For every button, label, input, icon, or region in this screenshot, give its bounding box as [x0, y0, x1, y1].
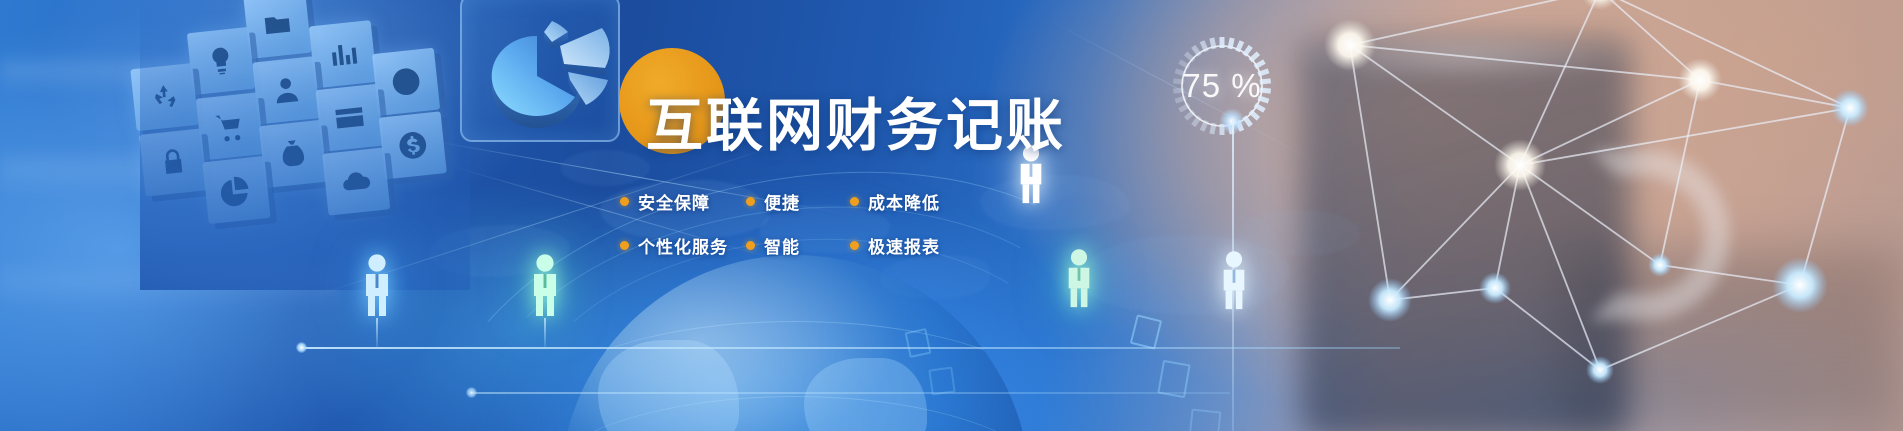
vignette-overlay: [0, 0, 1903, 431]
finance-banner: 75 %: [0, 0, 1903, 431]
